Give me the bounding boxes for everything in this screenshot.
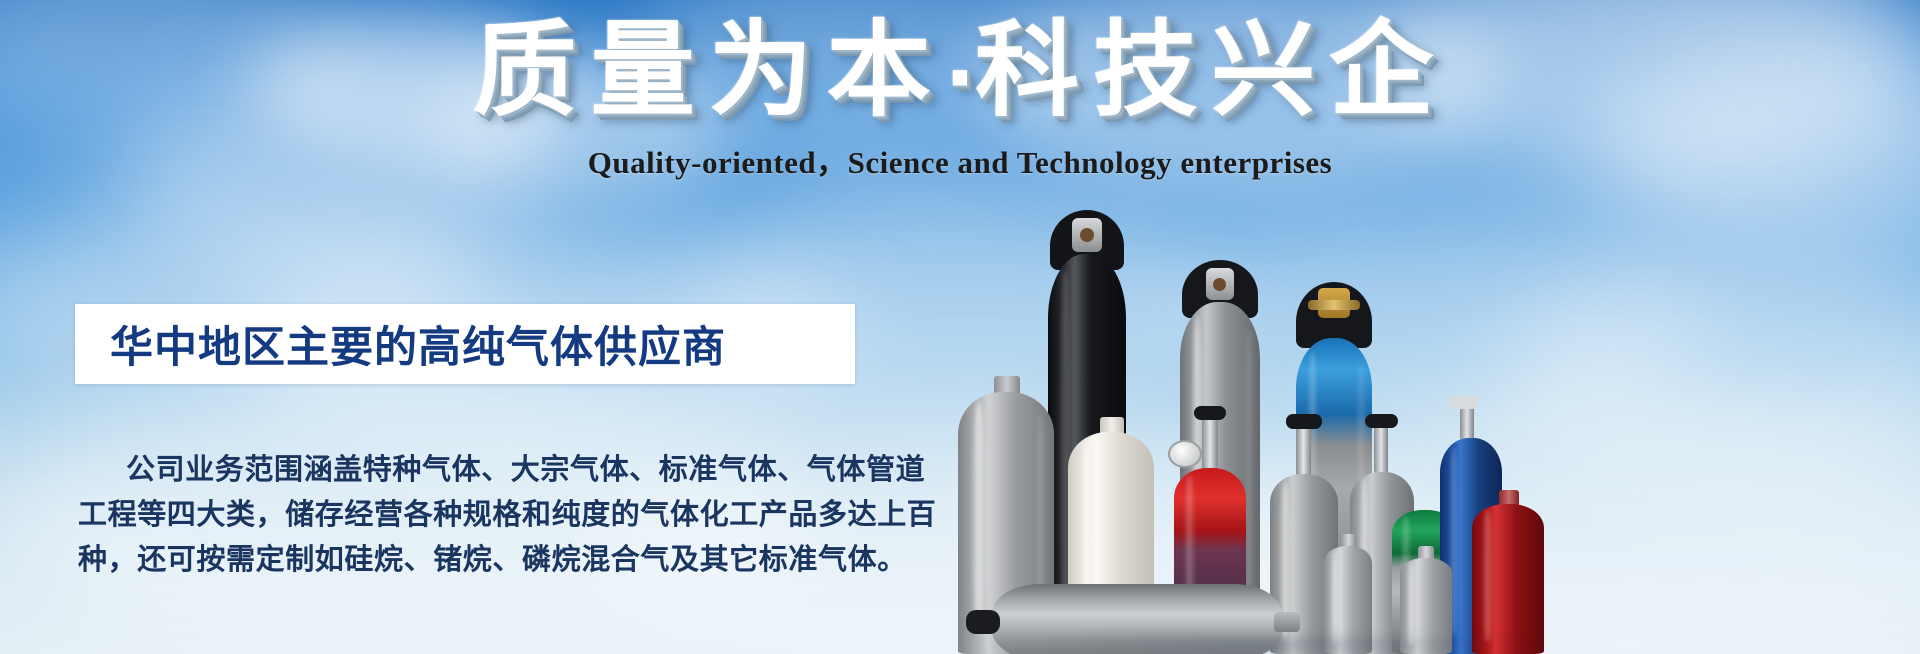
page-title-separator: · bbox=[945, 32, 975, 125]
cylinder-valve-stem bbox=[1202, 416, 1218, 470]
cylinder-neck bbox=[1274, 612, 1300, 632]
page-title-right: 科技兴企 bbox=[975, 9, 1447, 131]
cylinder-valve-stem bbox=[1296, 424, 1311, 476]
cylinder-valve-handwheel bbox=[1365, 414, 1398, 428]
cylinder-valve-cap bbox=[966, 610, 1000, 634]
cylinder-valve-handwheel bbox=[1286, 414, 1322, 429]
description-paragraph: 公司业务范围涵盖特种气体、大宗气体、标准气体、气体管道 工程等四大类，储存经营各… bbox=[78, 448, 868, 583]
cylinder-valve-handwheel bbox=[1194, 406, 1226, 420]
gas-cylinder-group bbox=[940, 150, 1560, 654]
callout-box-text: 华中地区主要的高纯气体供应商 bbox=[75, 313, 726, 375]
description-line: 公司业务范围涵盖特种气体、大宗气体、标准气体、气体管道 bbox=[78, 448, 868, 493]
cylinder-valve-stem bbox=[1374, 424, 1388, 474]
callout-box: 华中地区主要的高纯气体供应商 bbox=[75, 304, 855, 384]
cylinder-pressure-gauge bbox=[1168, 440, 1202, 468]
description-line: 种，还可按需定制如硅烷、锗烷、磷烷混合气及其它标准气体。 bbox=[78, 538, 868, 583]
page-title-left: 质量为本 bbox=[473, 9, 945, 131]
page-title: 质量为本·科技兴企 bbox=[0, 14, 1920, 135]
cylinder-valve-stem bbox=[1460, 404, 1474, 440]
cylinder-valve-nut bbox=[1080, 228, 1094, 242]
group-shadow bbox=[960, 632, 1550, 654]
banner-image: 质量为本·科技兴企 Quality-oriented，Science and T… bbox=[0, 0, 1920, 654]
cylinder-valve-handwheel bbox=[1448, 396, 1478, 409]
description-line: 工程等四大类，储存经营各种规格和纯度的气体化工产品多达上百 bbox=[78, 493, 868, 538]
cylinder-valve-outlet bbox=[1308, 300, 1360, 310]
cylinder-valve-nut bbox=[1213, 278, 1226, 291]
